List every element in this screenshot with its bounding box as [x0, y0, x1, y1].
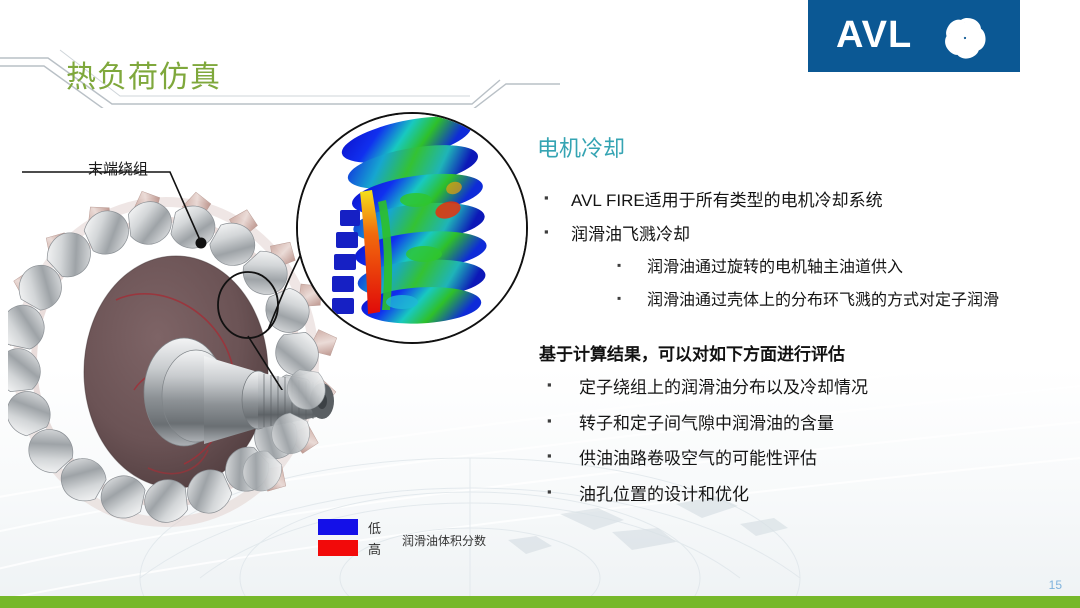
legend: 低 高 润滑油体积分数: [318, 519, 538, 561]
bullet-level1: AVL FIRE适用于所有类型的电机冷却系统: [537, 192, 1047, 210]
bullet-eval: 供油油路卷吸空气的可能性评估: [537, 450, 1047, 468]
legend-swatch-high: [318, 540, 358, 556]
slide-canvas: 热负荷仿真 AVL: [0, 0, 1080, 608]
bullet-eval: 油孔位置的设计和优化: [537, 486, 1047, 504]
legend-label-low: 低: [368, 518, 381, 537]
bullet-level2: 润滑油通过壳体上的分布环飞溅的方式对定子润滑: [537, 293, 1047, 310]
callout-anchor-dot: [196, 238, 207, 249]
avl-wordmark: AVL: [836, 14, 912, 57]
legend-caption: 润滑油体积分数: [402, 532, 486, 549]
cfd-winding-oil-volume-fraction-inset: [296, 112, 528, 344]
bullet-level1: 润滑油飞溅冷却: [537, 226, 1047, 244]
footer-accent-bar: [0, 596, 1080, 608]
content-column: 电机冷却 AVL FIRE适用于所有类型的电机冷却系统 润滑油飞溅冷却 润滑油通…: [537, 136, 1047, 522]
content-heading: 电机冷却: [537, 136, 1047, 162]
page-number: 15: [1049, 578, 1062, 592]
zoom-source-circle: [218, 272, 278, 338]
avl-logo: AVL: [808, 0, 1020, 72]
bullet-eval: 转子和定子间气隙中润滑油的含量: [537, 415, 1047, 433]
section-heading: 基于计算结果，可以对如下方面进行评估: [537, 340, 1047, 365]
callout-label-end-winding: 末端绕组: [88, 158, 148, 179]
bullet-level2: 润滑油通过旋转的电机轴主油道供入: [537, 260, 1047, 277]
legend-label-high: 高: [368, 539, 381, 558]
avl-swirl-icon: [936, 14, 994, 62]
page-title: 热负荷仿真: [66, 52, 221, 96]
legend-swatch-low: [318, 519, 358, 535]
bullet-eval: 定子绕组上的润滑油分布以及冷却情况: [537, 379, 1047, 397]
